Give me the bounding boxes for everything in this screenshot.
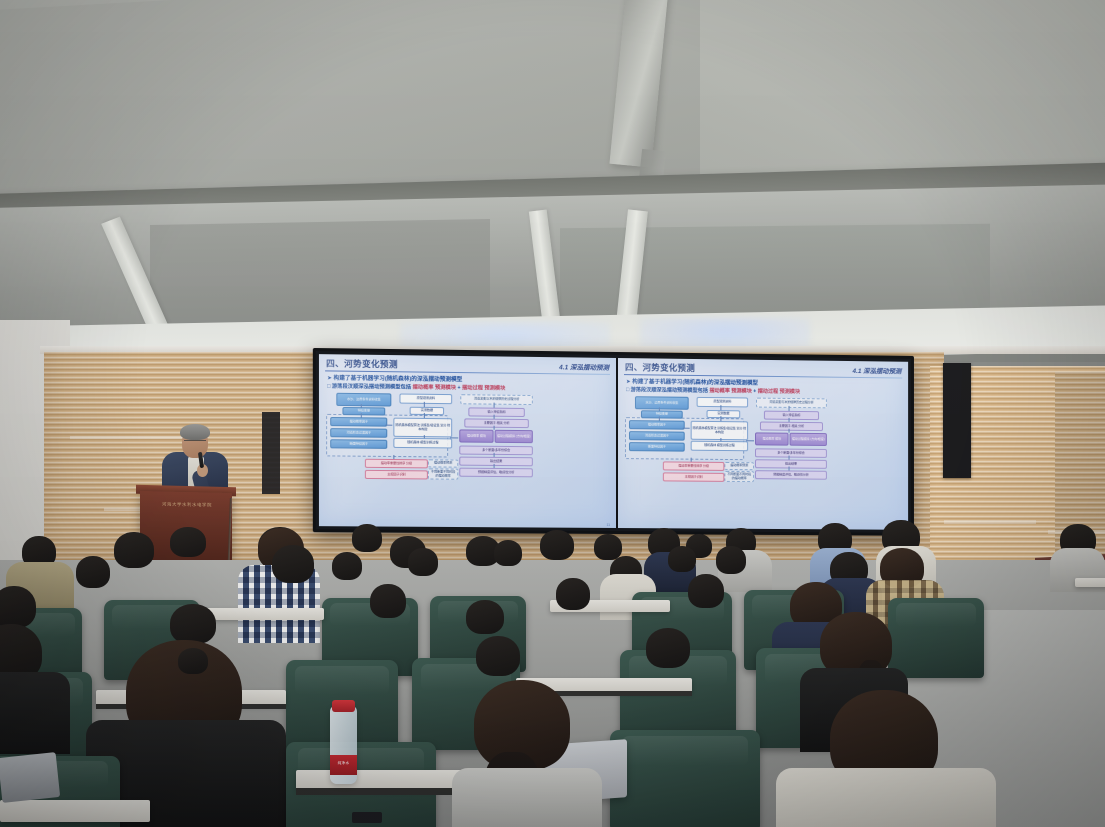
flow-arrow-r-12 xyxy=(789,466,790,470)
flow-node-n10: 河道演变与冲淤规律历史过程分析 xyxy=(460,394,533,405)
desk-r4-far xyxy=(1075,578,1105,587)
flow-node-r-n3: 摆动概率因子 xyxy=(629,420,685,430)
flow-node-r-n1: 水沙、边界条件资料收集 xyxy=(635,396,689,410)
flow-arrow-12 xyxy=(494,464,495,468)
flow-arrow-r-3 xyxy=(720,405,721,410)
ceiling xyxy=(0,0,1105,362)
flow-arrow-10 xyxy=(494,426,495,430)
flow-node-r-n18: 摆动率重要性排序 分级 xyxy=(663,461,725,471)
flow-node-r-n9: 随机森林 模型训练过程 xyxy=(691,441,748,452)
flow-node-n17: 预报精度评估、敏感性分析 xyxy=(459,468,533,478)
flow-node-n16: 输出结果 xyxy=(459,457,533,467)
tablet-device[interactable] xyxy=(0,752,60,803)
head-r4-7 xyxy=(668,546,696,572)
flow-node-n8: 随机森林模型算法 训练集/验证集 划分 样本构建 xyxy=(393,418,452,438)
seat-r3-7[interactable] xyxy=(888,598,984,678)
slide-right-flowchart: 水沙、边界条件资料收集 特征变量 摆动概率因子 河道形态过渡因子 断面特征因子 … xyxy=(623,395,903,489)
head-r5-2 xyxy=(114,532,154,568)
podium-label: 河海大学水利水电学院 xyxy=(148,501,226,511)
flow-arrow-5 xyxy=(424,435,425,438)
flow-arrow-r-2 xyxy=(659,416,660,420)
flow-arrow-r-10 xyxy=(789,429,790,433)
flow-arrow-r-4 xyxy=(720,416,721,421)
flow-arrow-3 xyxy=(424,402,425,407)
slide-left-title: 四、河势变化预测 xyxy=(326,357,398,370)
slide-left-section: 4.1 深泓摆动预测 xyxy=(559,361,609,372)
flow-node-n19: 主控因子识别 xyxy=(365,470,428,480)
flow-node-r-n17: 预报精度评估、敏感性分析 xyxy=(755,470,827,480)
projection-screen[interactable]: 四、河势变化预测 4.1 深泓摆动预测 ➤ 构建了基于机器学习(随机森林)的深泓… xyxy=(313,348,914,536)
flow-node-n9: 随机森林 模型训练过程 xyxy=(393,438,452,449)
flow-node-n21: 不同断面不同时段 的摆动概率 xyxy=(428,468,458,479)
flow-node-r-n8: 随机森林模型算法 训练集/验证集 划分 样本构建 xyxy=(691,421,748,441)
head-r2-3 xyxy=(476,636,520,676)
flow-node-n2: 特征变量 xyxy=(342,407,385,416)
speaker-hair xyxy=(180,424,210,440)
slide-left-page-number: 11 xyxy=(606,523,610,527)
head-r5-8 xyxy=(540,530,574,560)
flow-node-n18: 摆动率重要性排序 分级 xyxy=(365,459,428,469)
wall-speaker-panel-right xyxy=(943,363,971,478)
head-r1-small xyxy=(178,648,208,674)
head-r4-8 xyxy=(716,546,746,574)
seat-r1-3[interactable] xyxy=(610,730,760,827)
flow-node-r-n15: 多个断面/多年份综合 xyxy=(755,448,827,458)
flow-node-n3: 摆动概率因子 xyxy=(330,417,387,427)
desk-r1-left xyxy=(0,800,150,822)
slide-right-bullet-2-red1: 摆动概率 预测模块 xyxy=(709,388,751,394)
head-r3-4 xyxy=(466,600,504,634)
head-r4-2b xyxy=(272,545,314,583)
slide-left-bullet-2-prefix: □ 游荡段汊顺深泓摆动预测模型包括 xyxy=(327,384,412,391)
slide-left-bullet-2-red1: 摆动概率 预测模块 xyxy=(413,385,457,392)
speaker-glasses xyxy=(184,440,206,446)
flow-node-r-n4: 河道形态过渡因子 xyxy=(629,431,685,441)
slide-right[interactable]: 四、河势变化预测 4.1 深泓摆动预测 ➤ 构建了基于机器学习(随机森林)的深泓… xyxy=(618,358,908,530)
head-r2-4 xyxy=(646,628,690,668)
flow-node-r-n6: 原型观测资料 xyxy=(697,397,748,408)
flow-arrow-r-9 xyxy=(789,418,790,422)
slide-left-flowchart: 水沙、边界条件资料收集 特征变量 摆动概率因子 河道形态过渡因子 断面特征因子 … xyxy=(324,392,611,487)
head-r3-1 xyxy=(0,586,36,628)
flow-arrow-2 xyxy=(361,413,362,417)
desk-r3-1 xyxy=(204,608,324,620)
flow-arrow-r-5 xyxy=(720,438,721,441)
flow-node-r-n12: 主要因子 相关 分析 xyxy=(760,422,823,432)
head-r5-9 xyxy=(594,534,622,560)
flow-node-n12: 主要因子 相关 分析 xyxy=(464,418,529,428)
slide-right-section: 4.1 深泓摆动预测 xyxy=(853,365,902,376)
wall-seam-a xyxy=(70,436,190,439)
head-r4-5 xyxy=(494,540,522,566)
water-bottle-cap xyxy=(332,700,355,712)
flow-arrow-r-7 xyxy=(691,458,692,462)
head-r3-6 xyxy=(688,574,724,608)
slide-right-bullet-2-red2: 摆动过程 预测模块 xyxy=(758,389,800,395)
flow-arrow-11 xyxy=(494,453,495,457)
torso-r2-left xyxy=(0,672,70,754)
flow-node-r-n2: 特征变量 xyxy=(641,410,683,418)
slide-left-bullet-2-red2: 摆动过程 预测模块 xyxy=(462,385,505,392)
flow-node-n6: 原型观测资料 xyxy=(399,394,452,405)
flow-node-n15: 多个断面/多年份综合 xyxy=(459,446,533,456)
smartphone[interactable] xyxy=(352,812,382,823)
flow-node-r-n16: 输出结果 xyxy=(755,459,827,469)
wall-speaker-panel-left xyxy=(262,412,280,494)
flow-arrow-r-6 xyxy=(683,428,690,429)
flow-node-r-n20: 摆动概率预测 xyxy=(724,462,754,470)
flow-arrow-6 xyxy=(385,425,392,426)
head-r3-3 xyxy=(370,584,406,618)
head-r5-5 xyxy=(352,524,382,552)
flow-node-r-n19: 主控因子识别 xyxy=(663,472,725,481)
flow-node-r-n10: 河道演变与冲淤规律历史过程分析 xyxy=(756,398,827,409)
flow-arrow-1 xyxy=(361,404,362,407)
head-r5-3 xyxy=(170,527,206,557)
flow-node-n20: 摆动概率预测 xyxy=(428,459,458,467)
water-bottle-label-text: 纯净水 xyxy=(330,755,357,766)
head-r3-2 xyxy=(170,604,216,644)
flow-node-n14: 摆动过程模拟 (方向/幅度) xyxy=(495,430,533,443)
flow-node-n1: 水沙、边界条件资料收集 xyxy=(336,393,391,407)
head-r4-3 xyxy=(332,552,362,580)
wall-seam-c xyxy=(944,520,1036,524)
torso-r1-ponytail xyxy=(452,768,602,827)
head-r3-5 xyxy=(556,578,590,610)
flow-node-n13: 摆动概率 模块 xyxy=(459,429,493,442)
head-r4-4 xyxy=(408,548,438,576)
flow-arrow-4 xyxy=(424,413,425,418)
flow-arrow-r-13 xyxy=(746,440,754,441)
slide-container: 四、河势变化预测 4.1 深泓摆动预测 ➤ 构建了基于机器学习(随机森林)的深泓… xyxy=(319,354,908,530)
head-r4-1 xyxy=(76,556,110,588)
flow-node-n7: 实测数据 xyxy=(410,407,444,415)
slide-right-title: 四、河势变化预测 xyxy=(625,361,695,374)
flow-node-r-n14: 摆动过程模拟 (方向/幅度) xyxy=(790,433,827,446)
flow-node-n4: 河道形态过渡因子 xyxy=(330,428,387,438)
flow-node-n11: 输入特征指标 xyxy=(468,407,524,417)
slide-right-bullet-2-prefix: □ 游荡段汊顺深泓摆动预测模型包括 xyxy=(626,387,709,394)
flow-arrow-r-1 xyxy=(659,407,660,410)
flow-node-r-n11: 输入特征指标 xyxy=(764,411,819,421)
slide-left[interactable]: 四、河势变化预测 4.1 深泓摆动预测 ➤ 构建了基于机器学习(随机森林)的深泓… xyxy=(319,354,616,528)
flow-node-r-n21: 不同断面不同时段 的摆动概率 xyxy=(724,471,754,482)
flow-arrow-8 xyxy=(494,403,495,408)
lecture-hall-photo: 四、河势变化预测 4.1 深泓摆动预测 ➤ 构建了基于机器学习(随机森林)的深泓… xyxy=(0,0,1105,827)
flow-node-r-n13: 摆动概率 模块 xyxy=(755,432,789,445)
flow-arrow-r-8 xyxy=(789,406,790,411)
flow-arrow-r-11 xyxy=(789,456,790,460)
torso-r1-right xyxy=(776,768,996,827)
flow-node-r-n5: 断面特征因子 xyxy=(629,442,685,452)
flow-node-r-n7: 实测数据 xyxy=(707,410,741,418)
water-bottle-label: 纯净水 xyxy=(330,755,357,775)
flow-node-n5: 断面特征因子 xyxy=(330,439,387,449)
flow-arrow-7 xyxy=(393,455,394,459)
flow-arrow-13 xyxy=(450,437,458,438)
flow-arrow-9 xyxy=(494,415,495,419)
